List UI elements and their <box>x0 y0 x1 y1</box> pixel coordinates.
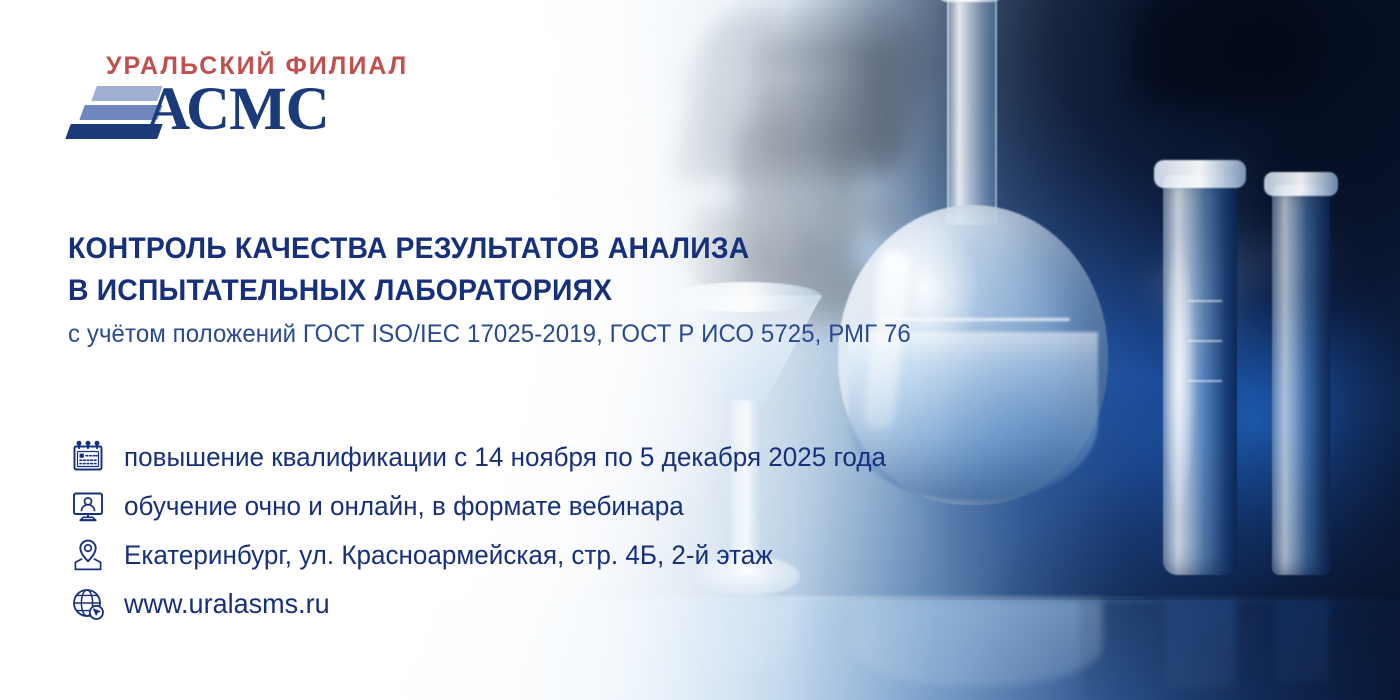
promo-banner: УРАЛЬСКИЙ ФИЛИАЛ АСМС КОНТРОЛЬ КАЧЕСТВА … <box>0 0 1400 700</box>
page-title-line-2: В ИСПЫТАТЕЛЬНЫХ ЛАБОРАТОРИЯХ <box>68 270 900 312</box>
monitor-person-icon <box>66 484 110 528</box>
info-text-address: Екатеринбург, ул. Красноармейская, стр. … <box>124 538 773 572</box>
info-row-address: Екатеринбург, ул. Красноармейская, стр. … <box>66 530 1126 579</box>
info-row-dates: повышение квалификации с 14 ноября по 5 … <box>66 432 1126 481</box>
page-subtitle: с учётом положений ГОСТ ISO/IEC 17025-20… <box>68 318 913 350</box>
globe-cursor-icon <box>66 582 110 626</box>
page-title-line-1: КОНТРОЛЬ КАЧЕСТВА РЕЗУЛЬТАТОВ АНАЛИЗА <box>68 228 900 270</box>
logo[interactable]: УРАЛЬСКИЙ ФИЛИАЛ АСМС <box>68 52 398 144</box>
logo-wordmark: АСМС <box>146 79 329 141</box>
info-text-dates: повышение квалификации с 14 ноября по 5 … <box>124 440 886 474</box>
info-row-website[interactable]: www.uralasms.ru <box>66 579 1126 628</box>
info-text-website[interactable]: www.uralasms.ru <box>124 587 330 621</box>
map-pin-icon <box>66 533 110 577</box>
info-row-format: обучение очно и онлайн, в формате вебина… <box>66 481 1126 530</box>
info-list: повышение квалификации с 14 ноября по 5 … <box>66 432 1126 628</box>
calendar-icon <box>66 435 110 479</box>
info-text-format: обучение очно и онлайн, в формате вебина… <box>124 489 684 523</box>
title-block: КОНТРОЛЬ КАЧЕСТВА РЕЗУЛЬТАТОВ АНАЛИЗА В … <box>68 228 948 350</box>
